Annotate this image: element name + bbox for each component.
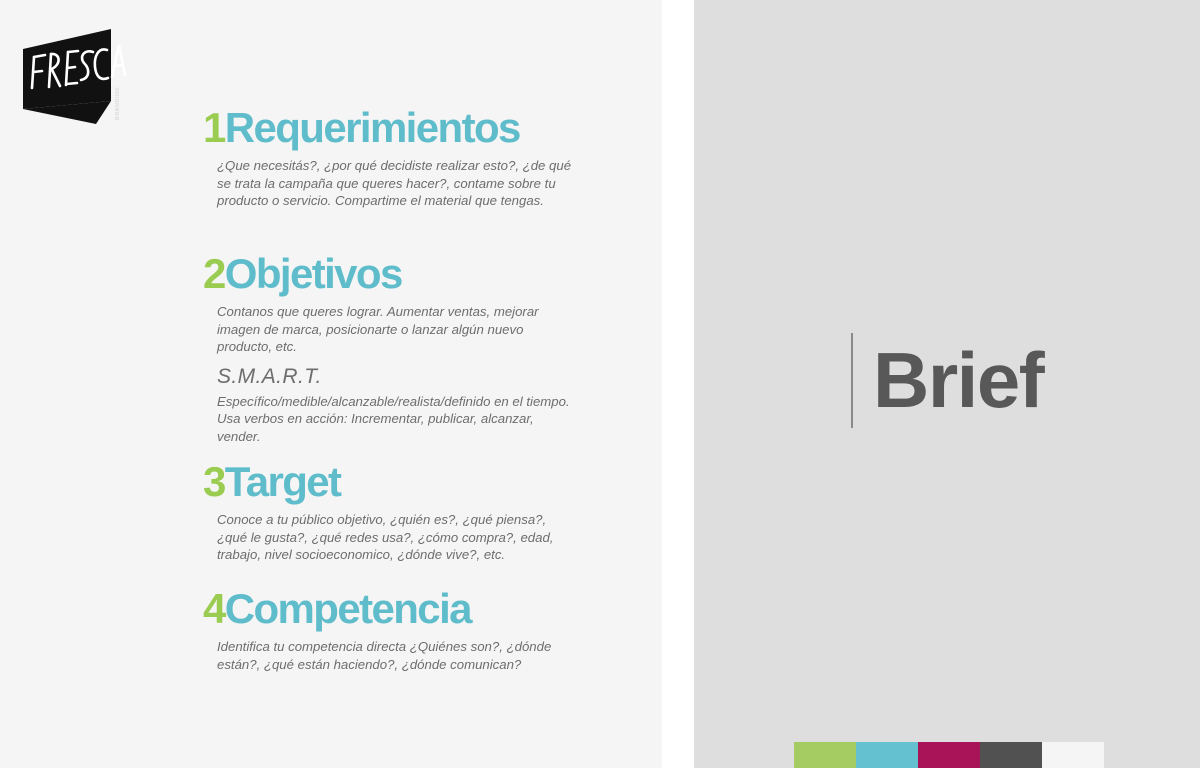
right-page: Brief: [694, 0, 1200, 768]
section-objetivos: 2Objetivos Contanos que queres lograr. A…: [203, 253, 603, 445]
section-3-heading: 3Target: [203, 461, 603, 503]
left-page: BRANDING 1Requerimientos ¿Que necesitás?…: [0, 0, 662, 768]
section-1-body: ¿Que necesitás?, ¿por qué decidiste real…: [217, 157, 577, 210]
section-1-number: 1: [203, 104, 225, 151]
section-target: 3Target Conoce a tu público objetivo, ¿q…: [203, 461, 603, 564]
section-4-heading: 4Competencia: [203, 588, 603, 630]
section-4-body: Identifica tu competencia directa ¿Quién…: [217, 638, 577, 673]
brief-vertical-rule: [851, 333, 853, 428]
section-competencia: 4Competencia Identifica tu competencia d…: [203, 588, 603, 673]
section-2-heading: 2Objetivos: [203, 253, 603, 295]
swatch-magenta: [918, 742, 980, 768]
section-2-title: Objetivos: [225, 250, 402, 297]
section-3-body: Conoce a tu público objetivo, ¿quién es?…: [217, 511, 577, 564]
section-3-title: Target: [225, 458, 341, 505]
presentation-spread: BRANDING 1Requerimientos ¿Que necesitás?…: [0, 0, 1200, 768]
swatch-dark-gray: [980, 742, 1042, 768]
section-4-number: 4: [203, 585, 225, 632]
swatch-green: [794, 742, 856, 768]
logo-subtext: BRANDING: [115, 87, 121, 120]
section-1-title: Requerimientos: [225, 104, 520, 151]
swatch-off-white: [1042, 742, 1104, 768]
smart-body: Específico/medible/alcanzable/realista/d…: [217, 393, 577, 446]
brief-title-block: Brief: [851, 333, 1043, 428]
section-4-title: Competencia: [225, 585, 471, 632]
smart-label: S.M.A.R.T.: [217, 365, 603, 388]
section-2-number: 2: [203, 250, 225, 297]
brief-title: Brief: [873, 343, 1043, 417]
section-2-body: Contanos que queres lograr. Aumentar ven…: [217, 303, 577, 356]
section-3-number: 3: [203, 458, 225, 505]
section-1-heading: 1Requerimientos: [203, 107, 603, 149]
color-palette-bar: [794, 742, 1104, 768]
section-requerimientos: 1Requerimientos ¿Que necesitás?, ¿por qu…: [203, 107, 603, 210]
fresca-logo: BRANDING: [20, 16, 132, 124]
swatch-teal: [856, 742, 918, 768]
